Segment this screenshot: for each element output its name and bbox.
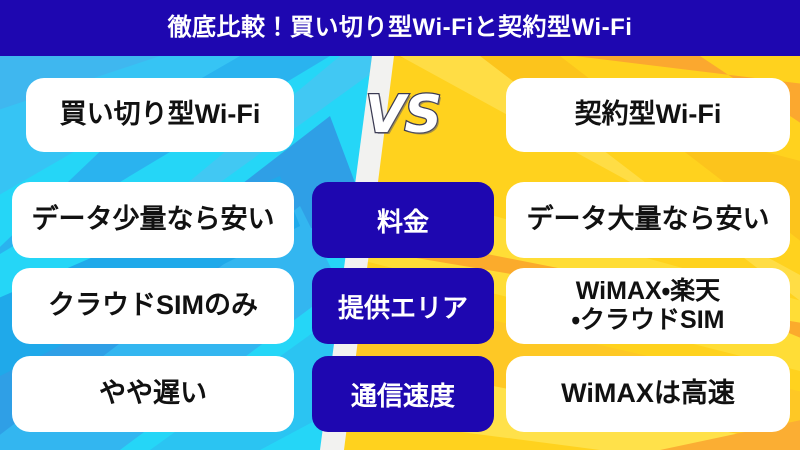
category-label: 通信速度 bbox=[351, 376, 455, 413]
page-title: 徹底比較！買い切り型Wi-Fiと契約型Wi-Fi bbox=[168, 16, 633, 40]
left-value-card-price: データ少量なら安い bbox=[12, 182, 294, 258]
category-badge-price: 料金 bbox=[312, 182, 494, 258]
comparison-infographic: 徹底比較！買い切り型Wi-Fiと契約型Wi-Fi bbox=[0, 0, 800, 450]
vs-label: VS bbox=[365, 89, 441, 141]
comparison-rows: 買い切り型Wi-Fi VS 契約型Wi-Fi データ少量なら安い 料金 データ大… bbox=[0, 56, 800, 450]
right-column-title-card: 契約型Wi-Fi bbox=[506, 78, 790, 152]
table-row: やや遅い 通信速度 WiMAXは高速 bbox=[0, 356, 800, 432]
right-value-card-area: WiMAX・楽天 ・クラウドSIM bbox=[506, 268, 790, 344]
category-label: 提供エリア bbox=[338, 288, 468, 325]
left-value-card-area: クラウドSIMのみ bbox=[12, 268, 294, 344]
table-row: 買い切り型Wi-Fi VS 契約型Wi-Fi bbox=[0, 78, 800, 152]
right-value-card-price: データ大量なら安い bbox=[506, 182, 790, 258]
header-bar: 徹底比較！買い切り型Wi-Fiと契約型Wi-Fi bbox=[0, 0, 800, 56]
table-row: データ少量なら安い 料金 データ大量なら安い bbox=[0, 182, 800, 258]
table-row: クラウドSIMのみ 提供エリア WiMAX・楽天 ・クラウドSIM bbox=[0, 268, 800, 344]
category-label: 料金 bbox=[377, 202, 429, 239]
category-badge-area: 提供エリア bbox=[312, 268, 494, 344]
right-value-card-speed: WiMAXは高速 bbox=[506, 356, 790, 432]
left-value-card-speed: やや遅い bbox=[12, 356, 294, 432]
left-column-title-card: 買い切り型Wi-Fi bbox=[26, 78, 294, 152]
vs-badge: VS bbox=[312, 78, 494, 152]
right-value-line-1: WiMAX・楽天 bbox=[576, 277, 720, 306]
category-badge-speed: 通信速度 bbox=[312, 356, 494, 432]
right-value-line-2: ・クラウドSIM bbox=[572, 306, 725, 335]
